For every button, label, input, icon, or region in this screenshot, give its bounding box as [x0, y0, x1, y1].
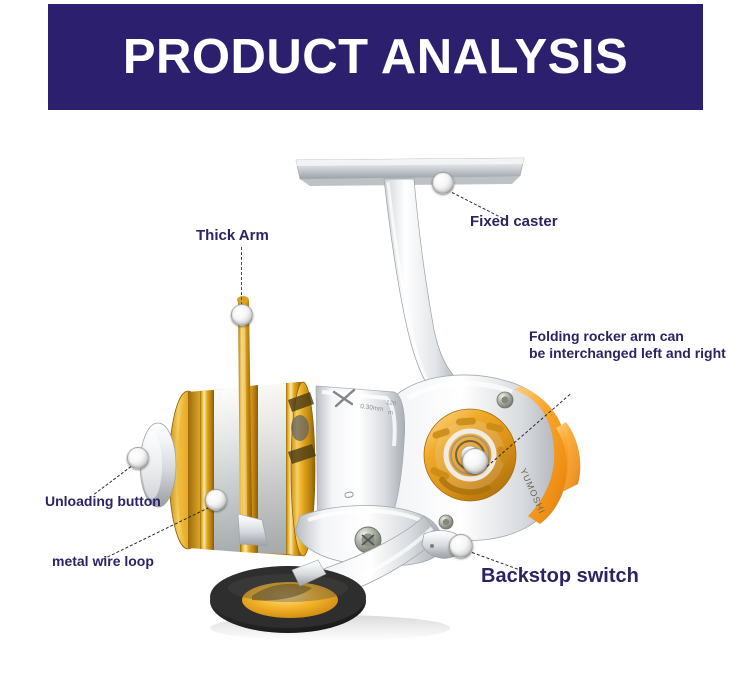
callout-backstop-switch: Backstop switch [481, 565, 639, 589]
body-screw-top [497, 392, 513, 408]
svg-text:m: m [388, 410, 394, 417]
marker-fixed-caster[interactable] [432, 172, 454, 194]
header-banner: PRODUCT ANALYSIS [48, 4, 703, 110]
page-title: PRODUCT ANALYSIS [123, 33, 628, 82]
spool-assembly: 0.30mm 120 m 0 [140, 382, 405, 556]
leader-thick-arm [241, 247, 242, 305]
leader-folding-rocker-arm [487, 394, 571, 467]
callout-folding-rocker-arm-line2: be interchanged left and right [529, 345, 726, 362]
spool-size-text: 0 [341, 490, 357, 500]
marker-backstop-switch[interactable] [449, 534, 473, 558]
reel-foot-tbar [296, 158, 524, 186]
callout-folding-rocker-arm: Folding rocker arm can be interchanged l… [529, 328, 726, 361]
body-screw-bottom [439, 515, 453, 529]
callout-fixed-caster: Fixed caster [470, 213, 558, 231]
leader-metal-wire-loop [103, 507, 209, 560]
marker-thick-arm[interactable] [231, 304, 253, 326]
marker-folding-rocker-arm[interactable] [462, 448, 488, 474]
spool-spec-text: 0.30mm [360, 403, 384, 413]
svg-text:120: 120 [386, 400, 397, 407]
brand-text: YUMOSHI [518, 467, 547, 516]
callout-thick-arm: Thick Arm [196, 227, 269, 245]
knob-stem [292, 560, 326, 586]
handle-knob [210, 566, 366, 633]
rotor-arm [296, 506, 442, 600]
callout-unloading-button: Unloading button [45, 493, 161, 510]
callout-folding-rocker-arm-line1: Folding rocker arm can [529, 328, 726, 345]
leader-unloading-button [94, 466, 131, 494]
reel-stem [384, 179, 470, 410]
marker-metal-wire-loop[interactable] [205, 489, 227, 511]
product-analysis-page: PRODUCT ANALYSIS [0, 0, 750, 685]
callout-metal-wire-loop: metal wire loop [52, 553, 154, 570]
bail-arm [237, 296, 268, 546]
marker-unloading-button[interactable] [127, 447, 149, 469]
